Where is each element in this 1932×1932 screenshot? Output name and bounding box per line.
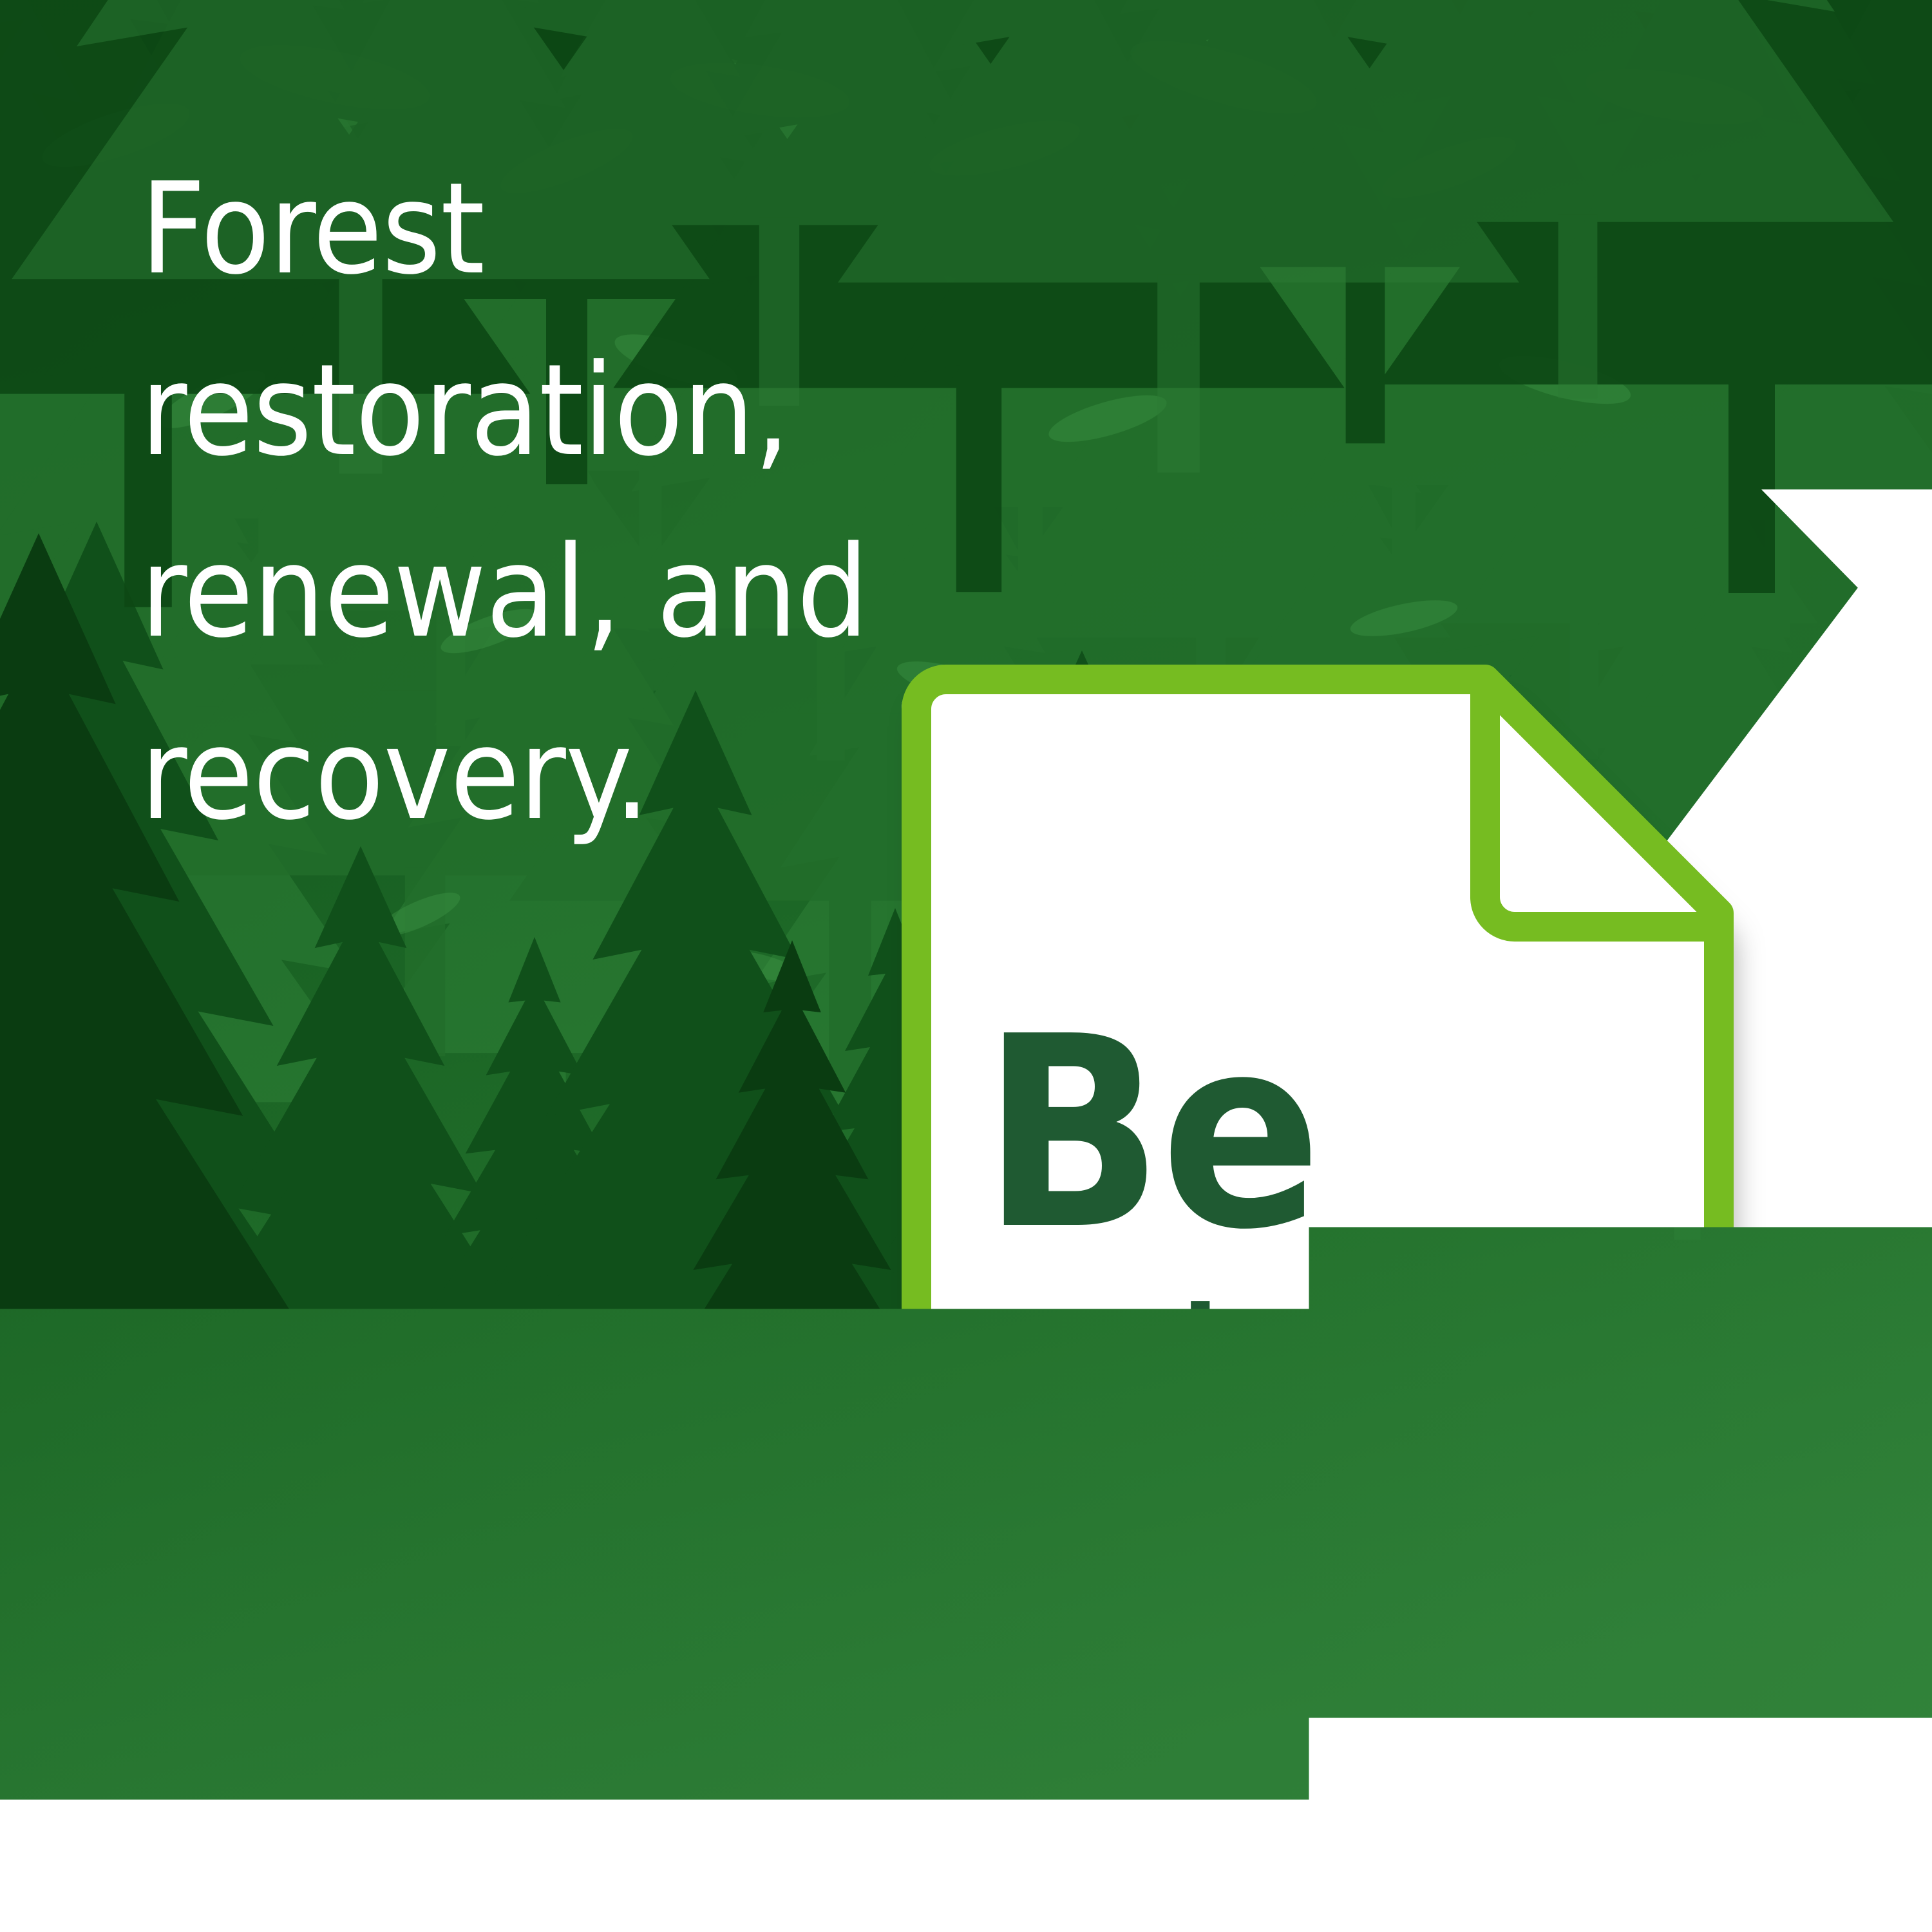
bottom-green-strip — [0, 1908, 1932, 1932]
poster-canvas: Forest restoration, renewal, and recover… — [0, 0, 1932, 1932]
card-line-2: the story — [982, 1406, 1710, 1540]
card-copy: Be part of the story — [982, 1018, 1710, 1540]
card-kicker: Be — [982, 1018, 1710, 1250]
document-card: Be part of the story — [902, 679, 1734, 1752]
card-line-1: part of — [982, 1277, 1710, 1410]
